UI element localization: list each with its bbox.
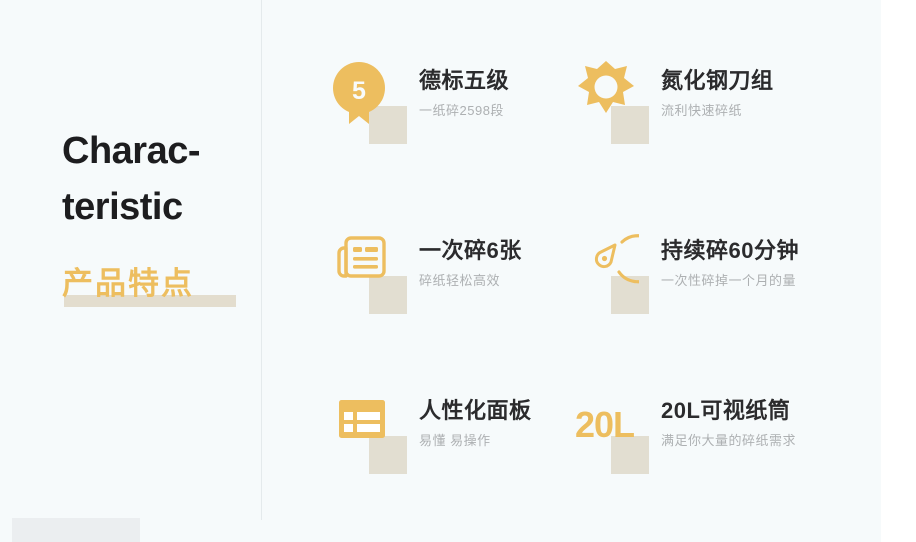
- page-subtitle-chinese: 产品特点: [62, 265, 252, 303]
- feature-item: 人性化面板 易懂 易操作: [333, 388, 532, 468]
- feature-icon-wrap: 5: [333, 58, 409, 138]
- feature-subtitle: 一纸碎2598段: [419, 102, 509, 120]
- feature-item: 5 德标五级 一纸碎2598段: [333, 58, 509, 138]
- feature-grid: 5 德标五级 一纸碎2598段: [261, 0, 881, 542]
- feature-title: 一次碎6张: [419, 236, 522, 266]
- feature-icon-wrap: [575, 58, 651, 138]
- feature-title: 氮化钢刀组: [661, 66, 774, 96]
- feature-text-wrap: 德标五级 一纸碎2598段: [409, 58, 509, 120]
- feature-subtitle: 满足你大量的碎纸需求: [661, 432, 796, 450]
- feature-subtitle: 易懂 易操作: [419, 432, 532, 450]
- heading-panel: Charac- teristic 产品特点: [0, 0, 261, 542]
- feature-subtitle: 一次性碎掉一个月的量: [661, 272, 799, 290]
- feature-icon-wrap: 20L: [575, 388, 651, 468]
- feature-item: 氮化钢刀组 流利快速碎纸: [575, 58, 774, 138]
- feature-icon-wrap: [333, 228, 409, 308]
- newspaper-icon: [333, 228, 397, 298]
- bottom-left-block: [12, 518, 140, 542]
- feature-subtitle: 流利快速碎纸: [661, 102, 774, 120]
- feature-subtitle: 碎纸轻松高效: [419, 272, 522, 290]
- volume-text-icon: 20L: [575, 404, 645, 446]
- page-title-line-2: teristic: [62, 179, 252, 235]
- feature-item: 20L 20L可视纸筒 满足你大量的碎纸需求: [575, 388, 796, 468]
- feature-item: 持续碎60分钟 一次性碎掉一个月的量: [575, 228, 799, 308]
- medal-badge-icon: 5: [333, 58, 397, 128]
- page-title-english: Charac- teristic: [62, 123, 252, 235]
- product-feature-slide: Charac- teristic 产品特点: [0, 0, 916, 542]
- feature-title: 人性化面板: [419, 396, 532, 426]
- feature-title: 20L可视纸筒: [661, 396, 796, 426]
- slide-card: Charac- teristic 产品特点: [0, 0, 881, 542]
- feature-item: 一次碎6张 碎纸轻松高效: [333, 228, 522, 308]
- timer-gauge-icon: [575, 228, 639, 298]
- page-title-line-1: Charac-: [62, 123, 252, 179]
- feature-text-wrap: 一次碎6张 碎纸轻松高效: [409, 228, 522, 290]
- feature-title: 持续碎60分钟: [661, 236, 799, 266]
- feature-text-wrap: 20L可视纸筒 满足你大量的碎纸需求: [651, 388, 796, 450]
- feature-text-wrap: 人性化面板 易懂 易操作: [409, 388, 532, 450]
- gear-blade-icon: [575, 58, 639, 128]
- control-panel-icon: [333, 388, 397, 458]
- badge-level-number: 5: [352, 77, 366, 105]
- feature-icon-wrap: [575, 228, 651, 308]
- feature-text-wrap: 氮化钢刀组 流利快速碎纸: [651, 58, 774, 120]
- page-subtitle-chinese-wrap: 产品特点: [62, 265, 252, 303]
- feature-icon-wrap: [333, 388, 409, 468]
- feature-title: 德标五级: [419, 66, 509, 96]
- feature-text-wrap: 持续碎60分钟 一次性碎掉一个月的量: [651, 228, 799, 290]
